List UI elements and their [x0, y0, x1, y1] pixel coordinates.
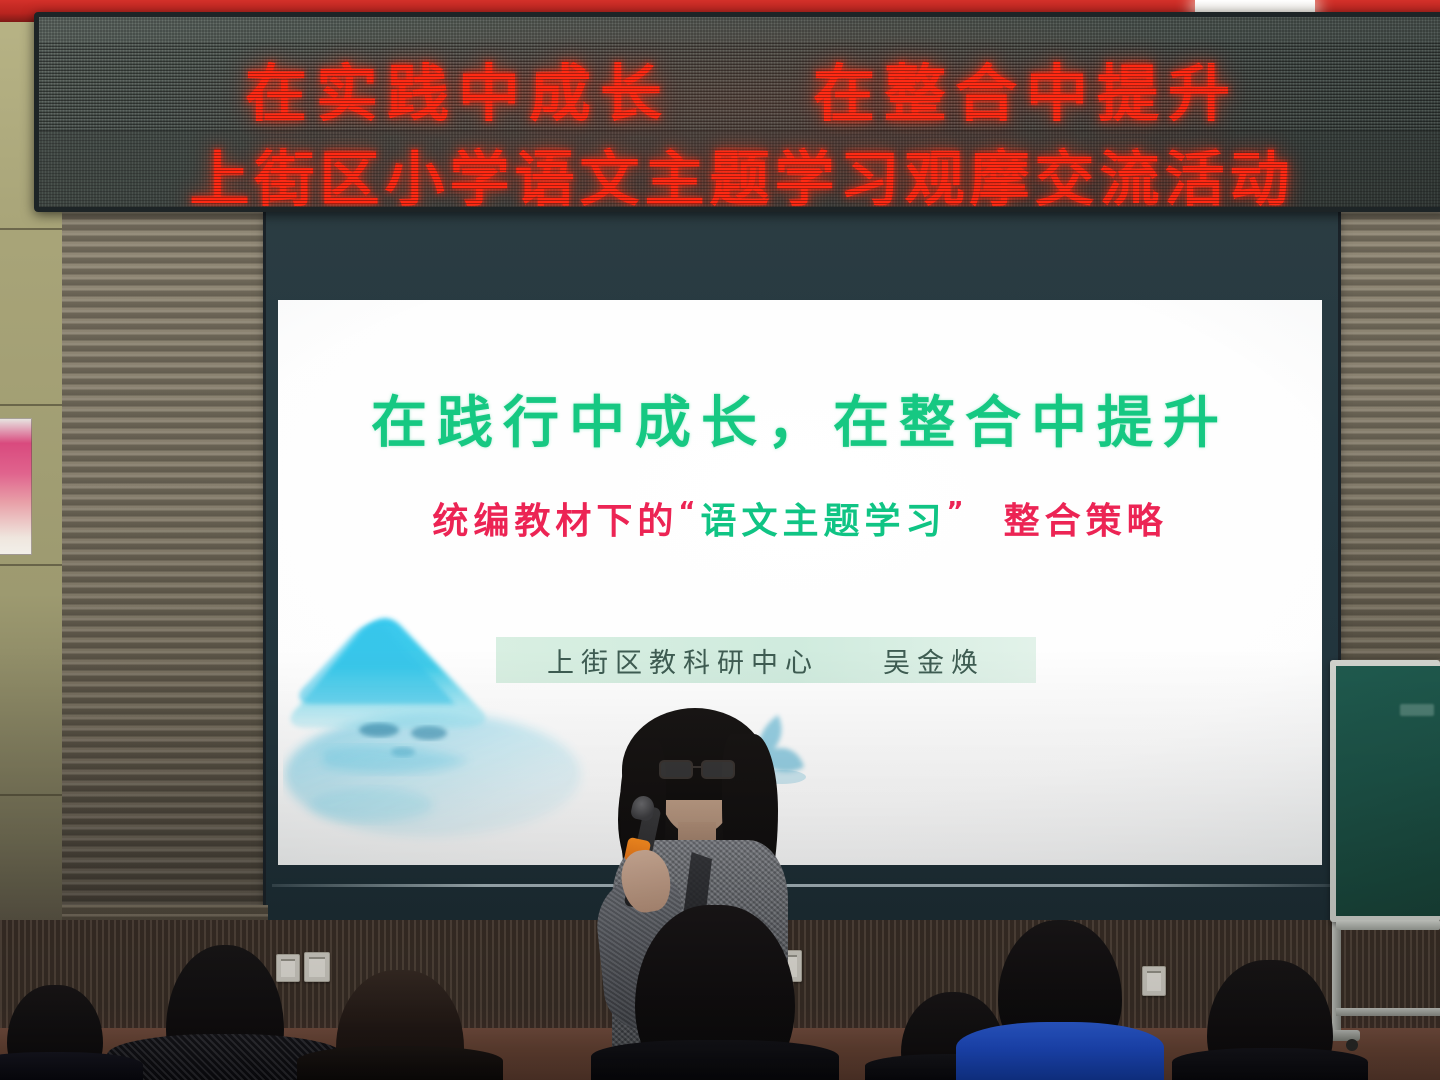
- presenter-organization: 上街区教科研中心: [547, 641, 819, 680]
- chalk-mark: [1400, 704, 1434, 716]
- audience-member: [0, 985, 140, 1080]
- led-banner-display: 在实践中成长 在整合中提升 上街区小学语文主题学习观摩交流活动: [34, 12, 1440, 212]
- auditorium-photo: 在践行中成长，在整合中提升 统编教材下的“语文主题学习” 整合策略 上街区教科研…: [0, 0, 1440, 1080]
- mobile-blackboard: [1330, 660, 1440, 922]
- subtitle-suffix: 整合策略: [1004, 501, 1168, 542]
- slatted-shutter-left: [62, 200, 268, 905]
- quote-open: “: [678, 497, 700, 527]
- slide-title: 在践行中成长，在整合中提升: [278, 378, 1322, 459]
- blackboard-chalk-tray: [1336, 920, 1440, 930]
- speaker-glasses: [659, 760, 735, 775]
- presenter-name: 吴金焕: [883, 641, 985, 680]
- quote-close: ”: [946, 497, 968, 527]
- audience-member: [300, 970, 500, 1080]
- wall-poster: [0, 418, 32, 555]
- subtitle-quoted: 语文主题学习: [700, 501, 946, 542]
- presenter-credit-box: 上街区教科研中心 吴金焕: [496, 637, 1036, 683]
- audience-member-blue-jacket: [960, 920, 1160, 1080]
- subtitle-prefix: 统编教材下的: [432, 501, 678, 542]
- slide-subtitle: 统编教材下的“语文主题学习” 整合策略: [278, 492, 1322, 544]
- led-banner-line-1: 在实践中成长 在整合中提升: [39, 43, 1440, 133]
- blackboard-surface: [1336, 666, 1440, 916]
- audience-member: [600, 905, 830, 1080]
- led-banner-line-2: 上街区小学语文主题学习观摩交流活动: [39, 131, 1440, 212]
- audience-member: [1175, 960, 1365, 1080]
